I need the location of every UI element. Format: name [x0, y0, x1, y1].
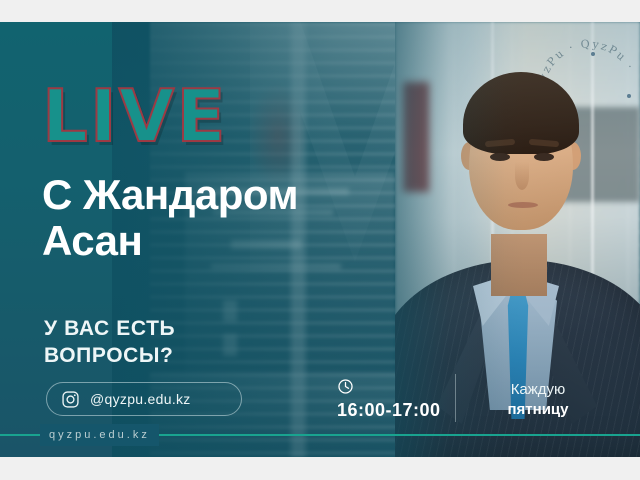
title-line-1: С Жандаром [42, 172, 412, 218]
footer-url: qyzpu.edu.kz [40, 424, 159, 446]
page-bottom-margin [0, 457, 640, 480]
vertical-divider [455, 374, 456, 422]
broadcast-time-text: 16:00-17:00 [337, 400, 441, 421]
instagram-handle-text: @qyzpu.edu.kz [90, 391, 191, 407]
schedule-line-1: Каждую [490, 380, 586, 400]
page-top-margin [0, 0, 640, 22]
subtitle-line-1: У ВАС ЕСТЬ [44, 315, 175, 342]
title-line-2: Асан [42, 218, 412, 264]
instagram-handle-pill[interactable]: @qyzpu.edu.kz [46, 382, 242, 416]
clock-icon [337, 378, 354, 395]
subtitle-line-2: ВОПРОСЫ? [44, 342, 175, 369]
page-title: С Жандаром Асан [42, 172, 412, 264]
broadcast-time-block: 16:00-17:00 [337, 378, 441, 421]
live-announcement-poster: QyzPu · QyzPu · LIVE С Жан [0, 22, 640, 457]
subtitle: У ВАС ЕСТЬ ВОПРОСЫ? [44, 315, 175, 369]
schedule-line-2: пятницу [490, 400, 586, 420]
instagram-icon [61, 390, 80, 409]
live-badge: LIVE [42, 84, 228, 148]
broadcast-schedule-block: Каждую пятницу [490, 380, 586, 420]
